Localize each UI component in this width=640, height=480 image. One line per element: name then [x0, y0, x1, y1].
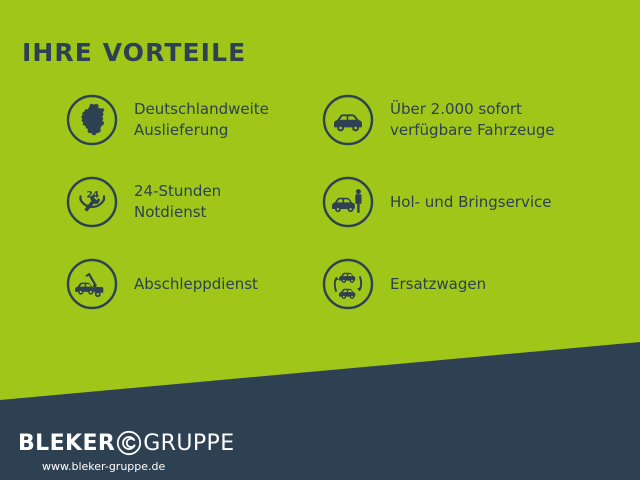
- benefit-label-line1: Über 2.000 sofort: [390, 100, 522, 118]
- benefit-label-line1: Deutschlandweite: [134, 100, 269, 118]
- logo-name-light: GRUPPE: [143, 431, 234, 456]
- brand-logo: BLEKER GRUPPE www.bleker-gruppe.de: [18, 428, 235, 473]
- benefit-label-line2: verfügbare Fahrzeuge: [390, 120, 555, 141]
- benefit-label-line1: Abschleppdienst: [134, 275, 258, 293]
- slide-root: IHRE VORTEILE Deutschlandweite Ausliefer…: [0, 0, 640, 480]
- benefit-label: Abschleppdienst: [134, 274, 258, 295]
- benefit-item-hol-und-bringservice: Hol- und Bringservice: [322, 176, 622, 228]
- benefit-label: Hol- und Bringservice: [390, 192, 552, 213]
- logo-website-url: www.bleker-gruppe.de: [42, 460, 235, 473]
- benefit-item-ersatzwagen: Ersatzwagen: [322, 258, 622, 310]
- benefit-label-line2: Notdienst: [134, 202, 221, 223]
- benefits-grid: Deutschlandweite Auslieferung Über 2.000…: [0, 94, 640, 340]
- logo-name-bold: BLEKER: [18, 431, 115, 456]
- benefit-label: Über 2.000 sofort verfügbare Fahrzeuge: [390, 99, 555, 140]
- benefit-row: Abschleppdienst: [0, 258, 640, 340]
- germany-map-icon: [66, 94, 118, 146]
- benefit-item-abschleppdienst: Abschleppdienst: [66, 258, 322, 310]
- benefit-item-deutschlandweite-auslieferung: Deutschlandweite Auslieferung: [66, 94, 322, 146]
- benefit-label: 24-Stunden Notdienst: [134, 181, 221, 222]
- benefit-label-line1: 24-Stunden: [134, 182, 221, 200]
- benefit-row: Deutschlandweite Auslieferung Über 2.000…: [0, 94, 640, 176]
- benefit-label: Ersatzwagen: [390, 274, 486, 295]
- benefit-label-line1: Ersatzwagen: [390, 275, 486, 293]
- benefit-row: 24 24-Stunden Notdienst: [0, 176, 640, 258]
- tow-truck-icon: [66, 258, 118, 310]
- benefit-item-verfuegbare-fahrzeuge: Über 2.000 sofort verfügbare Fahrzeuge: [322, 94, 622, 146]
- two-cars-swap-icon: [322, 258, 374, 310]
- logo-wordmark: BLEKER GRUPPE: [18, 428, 235, 458]
- page-title: IHRE VORTEILE: [22, 38, 246, 67]
- benefit-label-line1: Hol- und Bringservice: [390, 193, 552, 211]
- car-person-icon: [322, 176, 374, 228]
- benefit-label-line2: Auslieferung: [134, 120, 269, 141]
- benefit-label: Deutschlandweite Auslieferung: [134, 99, 269, 140]
- car-icon: [322, 94, 374, 146]
- benefit-item-24-stunden-notdienst: 24 24-Stunden Notdienst: [66, 176, 322, 228]
- wrench-24h-icon: 24: [66, 176, 118, 228]
- spiral-circle-icon: [116, 430, 142, 456]
